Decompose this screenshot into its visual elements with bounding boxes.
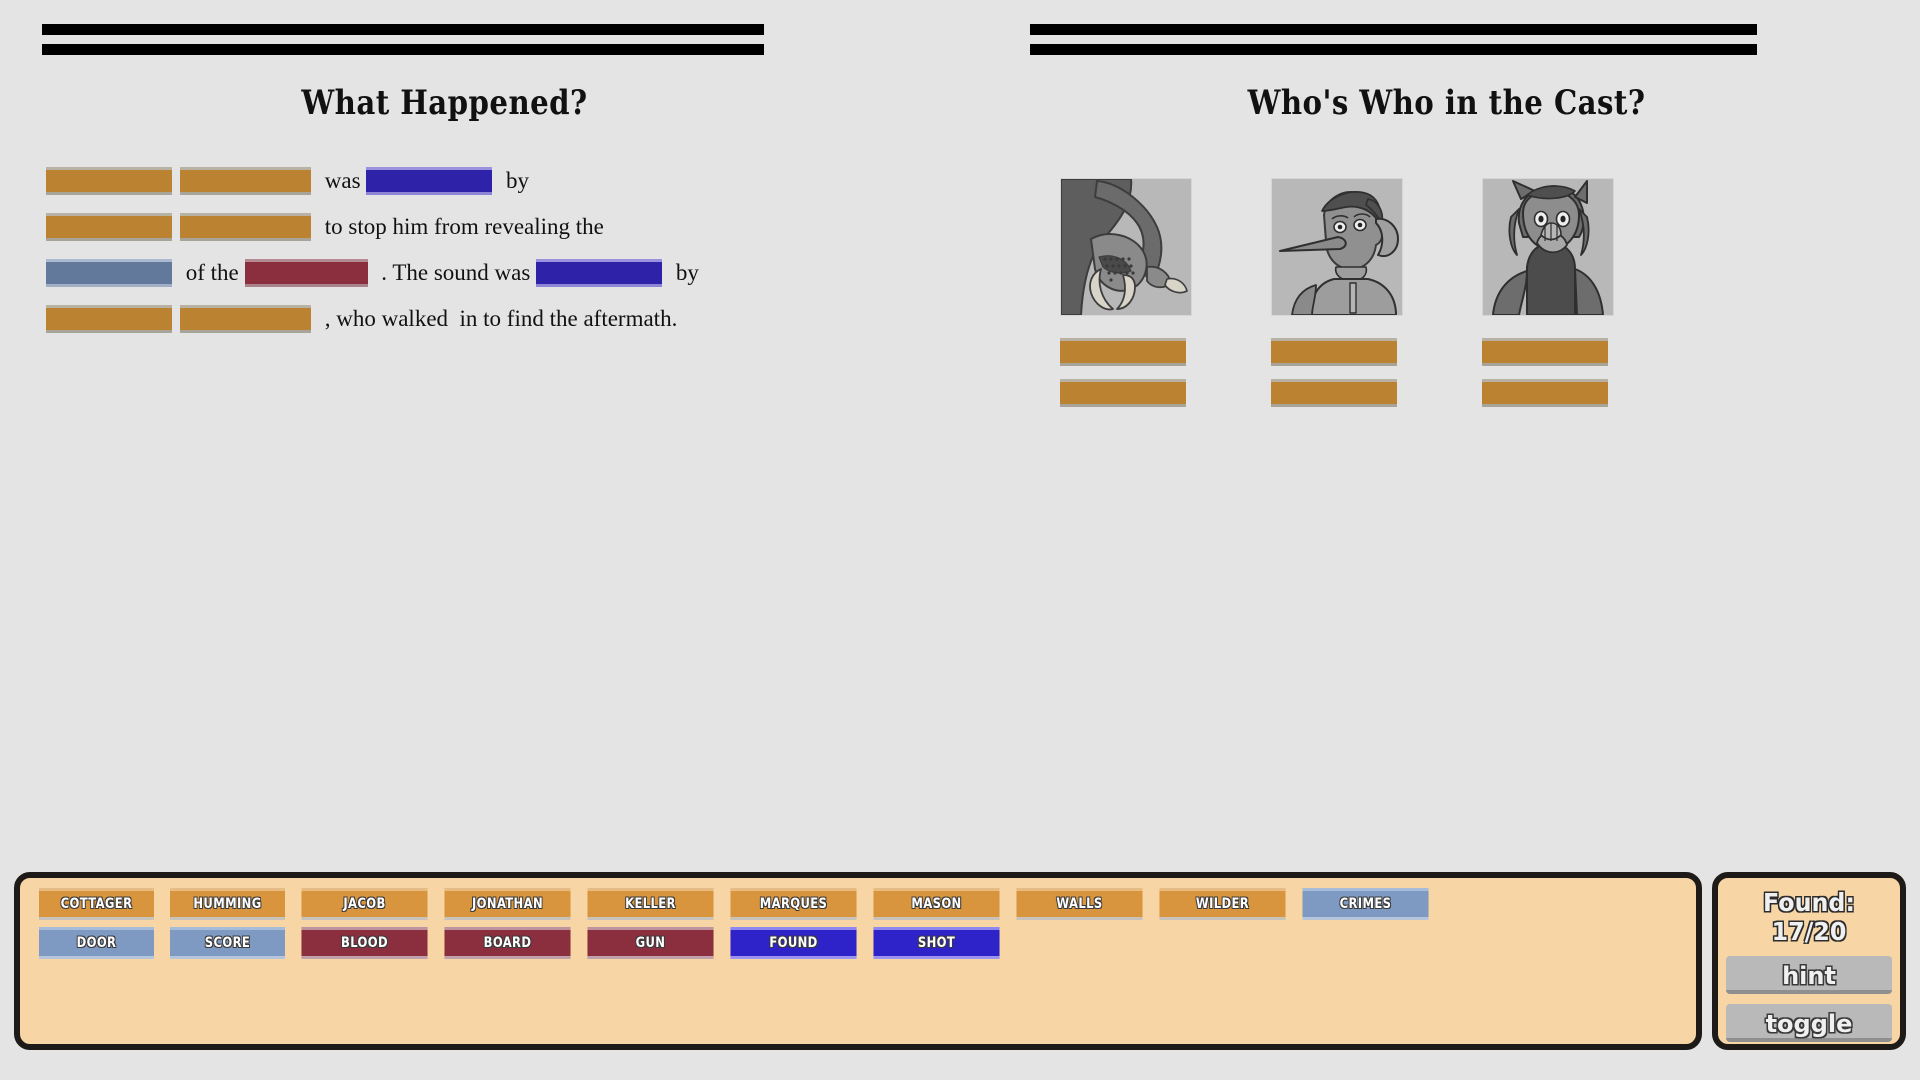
word-chip[interactable]: JONATHAN xyxy=(444,888,570,920)
story-line: to stop him from revealing the xyxy=(46,204,746,250)
cast-name-slot[interactable] xyxy=(1271,338,1397,366)
story-blank-slot[interactable] xyxy=(366,167,492,195)
game-root: What Happened? Who's Who in the Cast? wa… xyxy=(0,0,1920,1080)
story-blank-slot[interactable] xyxy=(180,305,311,333)
story-blank-slot[interactable] xyxy=(46,259,172,287)
cat-woman-shocked-portrait xyxy=(1482,178,1614,316)
word-chip[interactable]: CRIMES xyxy=(1302,888,1428,920)
rule-line-top xyxy=(1030,24,1757,35)
story-blank-slot[interactable] xyxy=(245,259,368,287)
word-chip[interactable]: BOARD xyxy=(444,927,570,959)
story-text: , who walked in to find the aftermath. xyxy=(319,296,677,342)
word-bank: COTTAGERHUMMINGJACOBJONATHANKELLERMARQUE… xyxy=(14,872,1702,1050)
story-blanks: was by to stop him from revealing the of… xyxy=(46,158,746,342)
cast-name-slot[interactable] xyxy=(1271,379,1397,407)
word-chip[interactable]: KELLER xyxy=(587,888,713,920)
rule-line-bottom xyxy=(1030,44,1757,55)
story-text: to stop him from revealing the xyxy=(319,204,610,250)
toggle-button[interactable]: toggle xyxy=(1726,1004,1892,1042)
rule-line-bottom xyxy=(42,44,764,55)
story-blank-slot[interactable] xyxy=(180,213,311,241)
cast-member-card xyxy=(1271,178,1401,407)
word-chip[interactable]: COTTAGER xyxy=(39,888,154,920)
word-chip[interactable]: FOUND xyxy=(730,927,856,959)
found-counter: Found: 17/20 xyxy=(1730,888,1888,946)
story-text: was xyxy=(319,158,366,204)
word-chip[interactable]: WILDER xyxy=(1159,888,1285,920)
word-chip[interactable]: DOOR xyxy=(39,927,154,959)
cast-name-slot[interactable] xyxy=(1060,379,1186,407)
whos-who-panel: Who's Who in the Cast? xyxy=(975,0,1920,123)
rule-line-top xyxy=(42,24,764,35)
word-chip[interactable]: BLOOD xyxy=(301,927,427,959)
header-rule-right xyxy=(1030,24,1757,55)
cast-member-card xyxy=(1482,178,1612,407)
page-title-whos-who: Who's Who in the Cast? xyxy=(1039,83,1853,123)
story-blank-slot[interactable] xyxy=(46,213,172,241)
story-blank-slot[interactable] xyxy=(536,259,662,287)
word-chip[interactable]: WALLS xyxy=(1016,888,1142,920)
word-chip[interactable]: JACOB xyxy=(301,888,427,920)
status-panel: Found: 17/20 hint toggle xyxy=(1712,872,1906,1050)
story-text: by xyxy=(500,158,535,204)
word-chip[interactable]: SCORE xyxy=(170,927,285,959)
cast-name-slot[interactable] xyxy=(1482,379,1608,407)
cast-list xyxy=(1060,178,1612,407)
long-nosed-man-portrait xyxy=(1271,178,1403,316)
story-line: was by xyxy=(46,158,746,204)
story-line: of the . The sound was by xyxy=(46,250,746,296)
story-text: of the xyxy=(180,250,245,296)
cast-member-card xyxy=(1060,178,1190,407)
story-text: by xyxy=(670,250,699,296)
word-chip[interactable]: GUN xyxy=(587,927,713,959)
page-title-what-happened: What Happened? xyxy=(0,83,901,123)
word-chip[interactable]: MARQUES xyxy=(730,888,856,920)
header-rule-left xyxy=(42,24,764,55)
hint-button[interactable]: hint xyxy=(1726,956,1892,994)
word-bank-row: COTTAGERHUMMINGJACOBJONATHANKELLERMARQUE… xyxy=(34,888,1682,920)
story-line: , who walked in to find the aftermath. xyxy=(46,296,746,342)
word-chip[interactable]: HUMMING xyxy=(170,888,285,920)
word-bank-row: DOORSCOREBLOODBOARDGUNFOUNDSHOT xyxy=(34,927,1682,959)
what-happened-panel: What Happened? xyxy=(0,0,975,123)
word-chip[interactable]: MASON xyxy=(873,888,999,920)
cast-name-slot[interactable] xyxy=(1060,338,1186,366)
rule-gap xyxy=(1030,35,1757,44)
story-text: . The sound was xyxy=(376,250,537,296)
word-chip[interactable]: SHOT xyxy=(873,927,999,959)
story-blank-slot[interactable] xyxy=(46,305,172,333)
cast-name-slot[interactable] xyxy=(1482,338,1608,366)
creature-clawed-arm-portrait xyxy=(1060,178,1192,316)
story-blank-slot[interactable] xyxy=(46,167,172,195)
story-blank-slot[interactable] xyxy=(180,167,311,195)
rule-gap xyxy=(42,35,764,44)
